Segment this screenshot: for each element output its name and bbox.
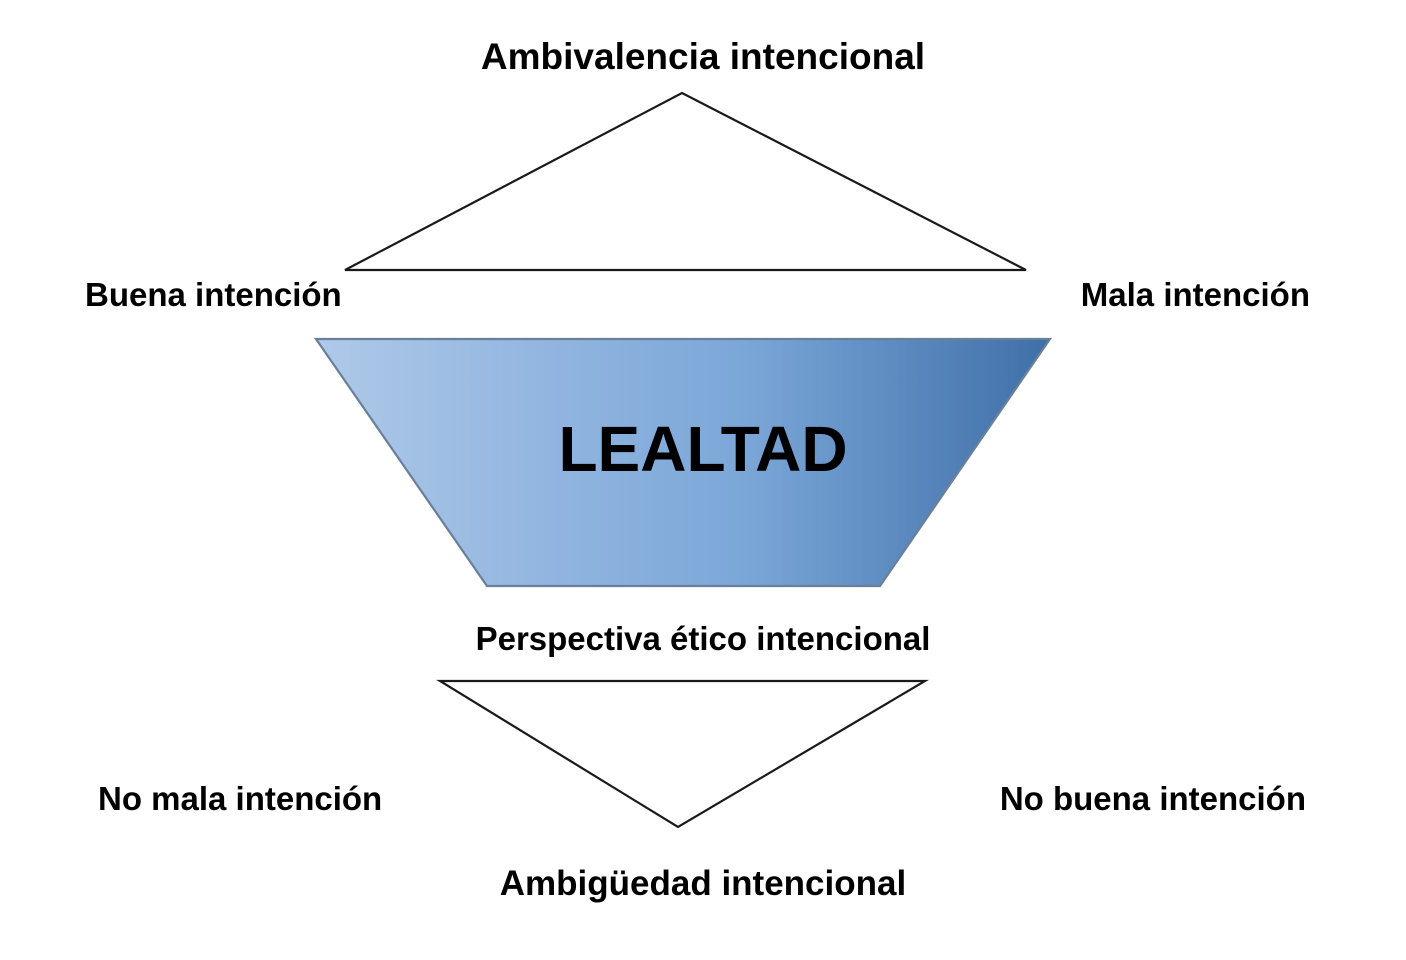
lower-triangle-title-label: Ambigüedad intencional [0,866,1406,901]
upper-left-label: Buena intención [85,278,342,311]
lower-left-label: No mala intención [98,782,382,815]
lower-triangle-top-label: Perspectiva ético intencional [0,622,1406,655]
loyalty-trapezoid-shape [316,339,1050,586]
upper-triangle-title-label: Ambivalencia intencional [0,38,1406,75]
upper-right-label: Mala intención [1081,278,1310,311]
lower-right-label: No buena intención [1000,782,1306,815]
upper-triangle-shape [345,93,1026,270]
lower-triangle-shape [440,681,925,827]
diagram-canvas: Ambivalencia intencional Buena intención… [0,0,1406,960]
